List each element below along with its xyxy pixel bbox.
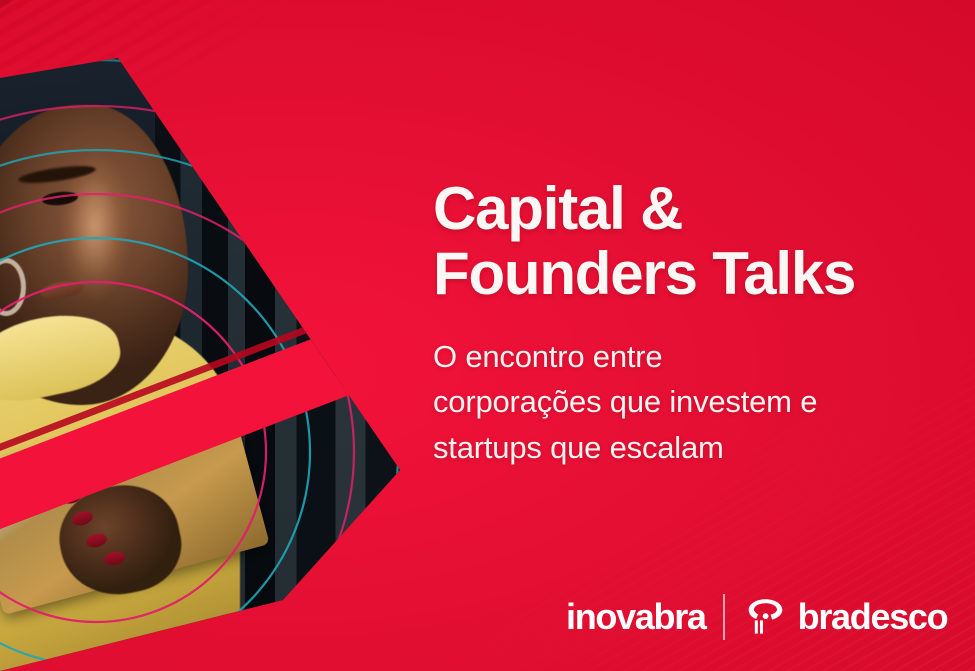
headline-line-1: Capital & xyxy=(433,175,682,242)
subtitle-line-2: corporações que investem e xyxy=(433,379,953,424)
logo-divider xyxy=(723,594,725,640)
logo-lockup: inovabra bradesco xyxy=(566,594,947,640)
subtitle: O encontro entre corporações que investe… xyxy=(433,334,953,470)
headline-line-2: Founders Talks xyxy=(433,241,953,306)
subtitle-line-1: O encontro entre xyxy=(433,334,953,379)
subtitle-line-3: startups que escalam xyxy=(433,425,953,470)
inovabra-logo: inovabra xyxy=(566,599,706,635)
page-title: Capital & Founders Talks xyxy=(433,176,953,307)
bradesco-wordmark: bradesco xyxy=(798,599,948,635)
bradesco-tree-icon xyxy=(742,595,788,639)
promo-banner: Capital & Founders Talks O encontro entr… xyxy=(0,0,975,671)
bradesco-logo: bradesco xyxy=(742,595,948,639)
